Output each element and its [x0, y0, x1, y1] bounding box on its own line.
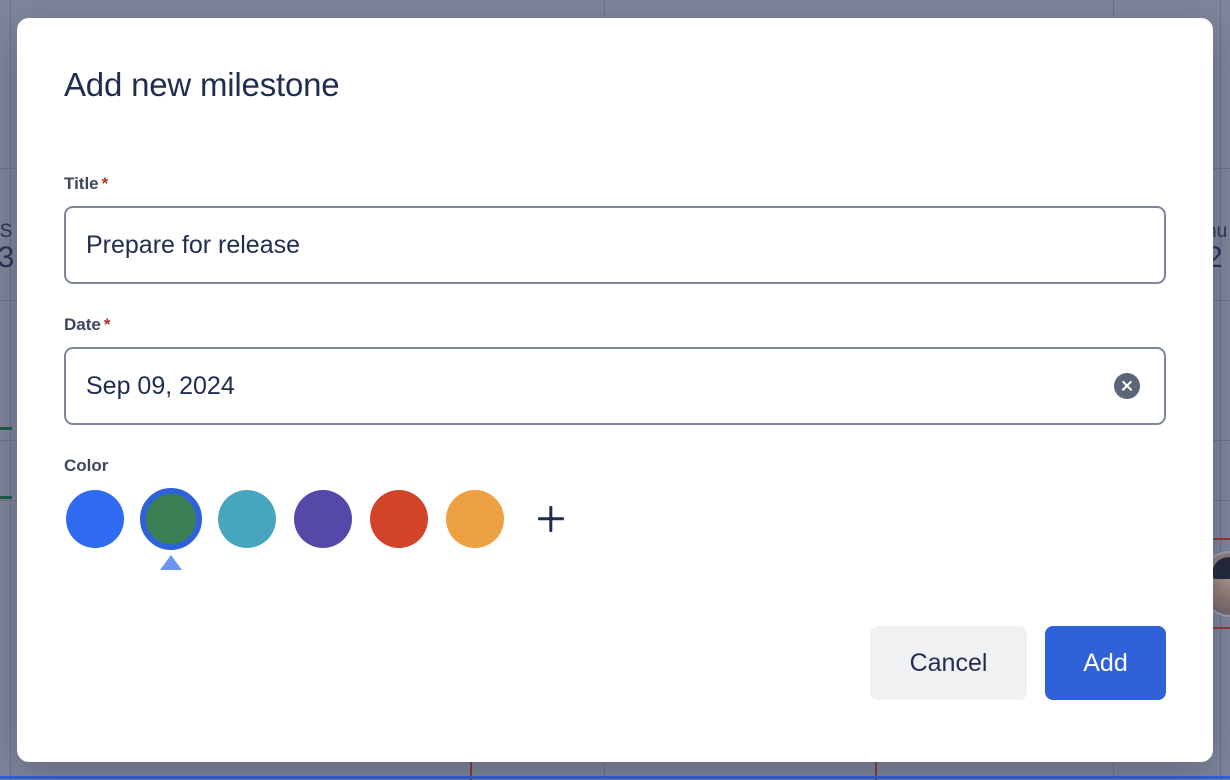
calendar-day-number: 3 [0, 242, 18, 274]
color-swatch-teal[interactable] [216, 488, 278, 550]
color-swatch-dot [294, 490, 352, 548]
color-swatch-dot [66, 490, 124, 548]
title-label: Title* [64, 174, 1166, 194]
color-swatch-purple[interactable] [292, 488, 354, 550]
dialog-footer: Cancel Add [870, 626, 1166, 700]
add-milestone-dialog: Add new milestone Title* Prepare for rel… [17, 18, 1213, 762]
color-swatch-dot [218, 490, 276, 548]
date-label: Date* [64, 315, 1166, 335]
color-swatch-dot [140, 488, 202, 550]
clear-circle-icon[interactable] [1114, 373, 1140, 399]
date-input-value[interactable]: Sep 09, 2024 [86, 372, 1114, 401]
title-input-value[interactable]: Prepare for release [86, 231, 1144, 260]
title-field-group: Title* Prepare for release [64, 174, 1166, 284]
color-swatch-green[interactable] [140, 488, 202, 550]
color-label: Color [64, 456, 1166, 476]
title-input[interactable]: Prepare for release [64, 206, 1166, 284]
color-swatch-orange[interactable] [444, 488, 506, 550]
cancel-button[interactable]: Cancel [870, 626, 1027, 700]
calendar-event-bar [0, 496, 12, 499]
date-field-group: Date* Sep 09, 2024 [64, 315, 1166, 425]
required-asterisk: * [104, 315, 111, 334]
calendar-day-name: S [0, 222, 18, 242]
add-button[interactable]: Add [1045, 626, 1166, 700]
required-asterisk: * [102, 174, 109, 193]
color-field-group: Color [64, 456, 1166, 550]
color-swatch-blue[interactable] [64, 488, 126, 550]
date-input[interactable]: Sep 09, 2024 [64, 347, 1166, 425]
date-label-text: Date [64, 315, 101, 334]
color-swatch-red[interactable] [368, 488, 430, 550]
color-swatch-row [64, 488, 1166, 550]
calendar-grid-line [1220, 0, 1221, 780]
color-swatch-dot [446, 490, 504, 548]
calendar-event-bar [0, 427, 12, 430]
calendar-grid-line [10, 0, 11, 780]
calendar-day-header: S 3 [0, 222, 18, 273]
title-label-text: Title [64, 174, 99, 193]
plus-icon[interactable] [528, 496, 574, 542]
selected-caret-icon [160, 555, 182, 570]
calendar-today-line [0, 776, 1230, 779]
color-swatch-dot [370, 490, 428, 548]
dialog-title: Add new milestone [64, 66, 339, 104]
